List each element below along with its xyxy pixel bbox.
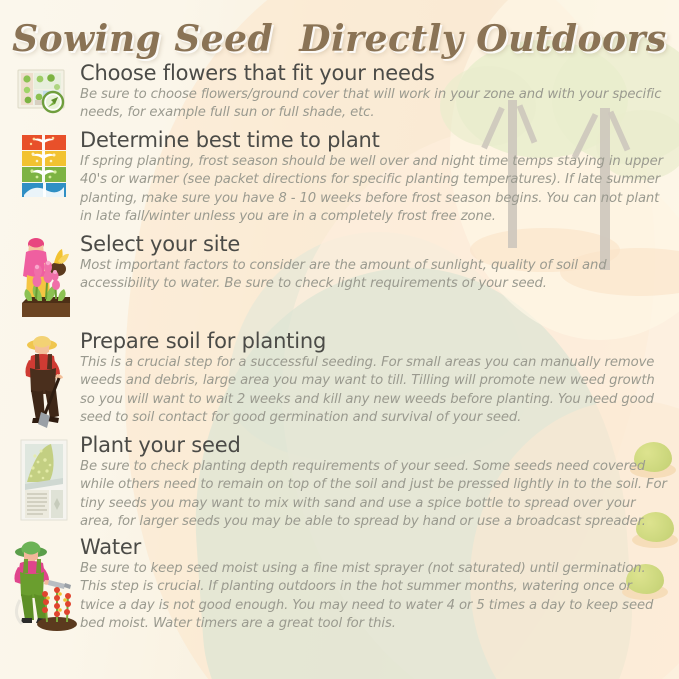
gardener-watering-icon bbox=[9, 540, 79, 632]
step-body: Most important factors to consider are t… bbox=[80, 257, 669, 294]
step-body: Be sure to choose flowers/ground cover t… bbox=[80, 86, 669, 123]
step-icon-cell bbox=[8, 434, 80, 522]
step-water: Water Be sure to keep seed moist using a… bbox=[0, 536, 679, 634]
step-select-site: Select your site Most important factors … bbox=[0, 233, 679, 325]
step-icon-cell bbox=[8, 330, 80, 430]
step-text-cell: Select your site Most important factors … bbox=[80, 233, 679, 294]
step-icon-cell bbox=[8, 129, 80, 199]
infographic-poster: Sowing Seed Directly Outdoors bbox=[0, 0, 679, 679]
step-text-cell: Choose flowers that fit your needs Be su… bbox=[80, 62, 679, 123]
step-heading: Select your site bbox=[80, 233, 669, 256]
step-body: If spring planting, frost season should … bbox=[80, 153, 669, 227]
poster-title: Sowing Seed Directly Outdoors bbox=[0, 18, 679, 60]
step-prepare-soil: Prepare soil for planting This is a cruc… bbox=[0, 330, 679, 430]
step-body: Be sure to check planting depth requirem… bbox=[80, 458, 669, 532]
four-seasons-icon bbox=[18, 133, 70, 199]
step-icon-cell bbox=[8, 233, 80, 325]
step-heading: Choose flowers that fit your needs bbox=[80, 62, 669, 85]
step-choose-flowers: Choose flowers that fit your needs Be su… bbox=[0, 62, 679, 123]
step-body: Be sure to keep seed moist using a fine … bbox=[80, 560, 669, 634]
step-determine-time: Determine best time to plant If spring p… bbox=[0, 129, 679, 227]
step-body: This is a crucial step for a successful … bbox=[80, 354, 669, 428]
step-heading: Water bbox=[80, 536, 669, 559]
step-plant-seed: Plant your seed Be sure to check plantin… bbox=[0, 434, 679, 532]
gardener-planting-flowers-icon bbox=[14, 237, 74, 325]
garden-plan-compass-icon bbox=[15, 66, 73, 122]
step-icon-cell bbox=[8, 62, 80, 122]
step-text-cell: Water Be sure to keep seed moist using a… bbox=[80, 536, 679, 634]
step-heading: Plant your seed bbox=[80, 434, 669, 457]
step-heading: Prepare soil for planting bbox=[80, 330, 669, 353]
step-text-cell: Prepare soil for planting This is a cruc… bbox=[80, 330, 679, 428]
step-icon-cell bbox=[8, 536, 80, 632]
gardener-with-shovel-icon bbox=[15, 334, 73, 430]
step-text-cell: Determine best time to plant If spring p… bbox=[80, 129, 679, 227]
steps-list: Choose flowers that fit your needs Be su… bbox=[0, 62, 679, 634]
step-text-cell: Plant your seed Be sure to check plantin… bbox=[80, 434, 679, 532]
step-heading: Determine best time to plant bbox=[80, 129, 669, 152]
seed-packet-icon bbox=[17, 438, 71, 522]
